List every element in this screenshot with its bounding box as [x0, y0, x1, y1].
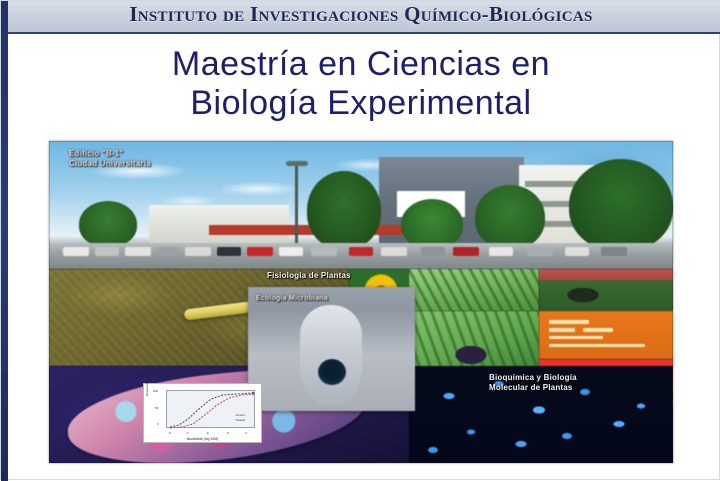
institute-header-title: Instituto de Investigaciones Químico-Bio… — [1, 2, 720, 27]
campus-building-left — [149, 205, 289, 243]
chart-y-tick: 50 — [155, 406, 158, 410]
chart-x-tick: -4 — [244, 431, 247, 435]
parked-car — [601, 247, 627, 256]
collage-tile-plant-closeup — [409, 311, 539, 371]
page-title: Maestría en Ciencias en Biología Experim… — [1, 45, 720, 124]
collage-tile-gel-orange — [539, 311, 673, 359]
campus-tree — [401, 199, 463, 249]
chart-y-tick: 0 — [157, 422, 159, 426]
chart-curves — [167, 391, 256, 429]
parked-car — [527, 247, 553, 256]
page-title-line-2: Biología Experimental — [1, 84, 720, 123]
collage-tile-campus: Edificio "B-1" Ciudad Universitaria — [49, 141, 673, 269]
parked-car — [311, 247, 337, 256]
parked-car — [349, 247, 373, 256]
chart-y-axis-label: Response — [145, 386, 149, 396]
collage-tile-plant-field — [539, 269, 673, 311]
header-band: Instituto de Investigaciones Químico-Bio… — [1, 1, 720, 34]
chart-x-axis-label: Nucleotide (log 10M) — [144, 437, 261, 441]
left-accent-strip — [1, 1, 8, 481]
chart-x-tick: -7 — [186, 431, 189, 435]
campus-tree — [475, 185, 545, 249]
chart-x-tick: -5 — [226, 431, 229, 435]
parked-car — [185, 247, 211, 256]
chart-x-tick: -9 — [168, 431, 171, 435]
campus-lamp-post — [295, 165, 298, 251]
dose-response-chart: Response 100 50 0 Control Treated -9 -7 … — [143, 383, 262, 443]
root-tip-micrograph — [300, 305, 362, 405]
page-title-line-1: Maestría en Ciencias en — [172, 45, 550, 83]
chart-x-tick: -6 — [206, 431, 209, 435]
chart-y-tick: 100 — [153, 389, 158, 393]
parked-car — [157, 247, 179, 256]
parked-car — [247, 247, 273, 256]
chart-legend: Control Treated — [235, 413, 245, 423]
root-tip-stain — [318, 359, 346, 385]
parked-car — [565, 247, 589, 256]
presentation-slide: Instituto de Investigaciones Químico-Bio… — [0, 0, 720, 480]
chart-plot-area: Control Treated — [166, 390, 255, 428]
parked-car — [95, 247, 119, 256]
parked-car — [125, 247, 151, 256]
parked-car — [453, 247, 479, 256]
chart-legend-item: Treated — [235, 418, 245, 423]
collage-label-plant-molecular: Bioquímica y Biología Molecular de Plant… — [489, 373, 577, 393]
collage-label-microbial-ecology: Ecología Microbiana — [256, 295, 328, 304]
parked-car — [421, 247, 445, 256]
campus-tree — [569, 159, 673, 251]
collage-label-campus: Edificio "B-1" Ciudad Universitaria — [69, 149, 151, 169]
parked-car — [381, 247, 407, 256]
parked-car — [63, 247, 89, 256]
parked-car — [489, 247, 513, 256]
collage-tile-leaves — [409, 269, 539, 311]
collage-label-plant-physiology: Fisiología de Plantas — [267, 271, 351, 281]
inset-microbial-ecology: Ecología Microbiana — [248, 287, 415, 411]
parked-car — [217, 247, 241, 256]
parked-car — [279, 247, 303, 256]
campus-tree — [79, 201, 137, 247]
campus-tree — [307, 171, 381, 249]
